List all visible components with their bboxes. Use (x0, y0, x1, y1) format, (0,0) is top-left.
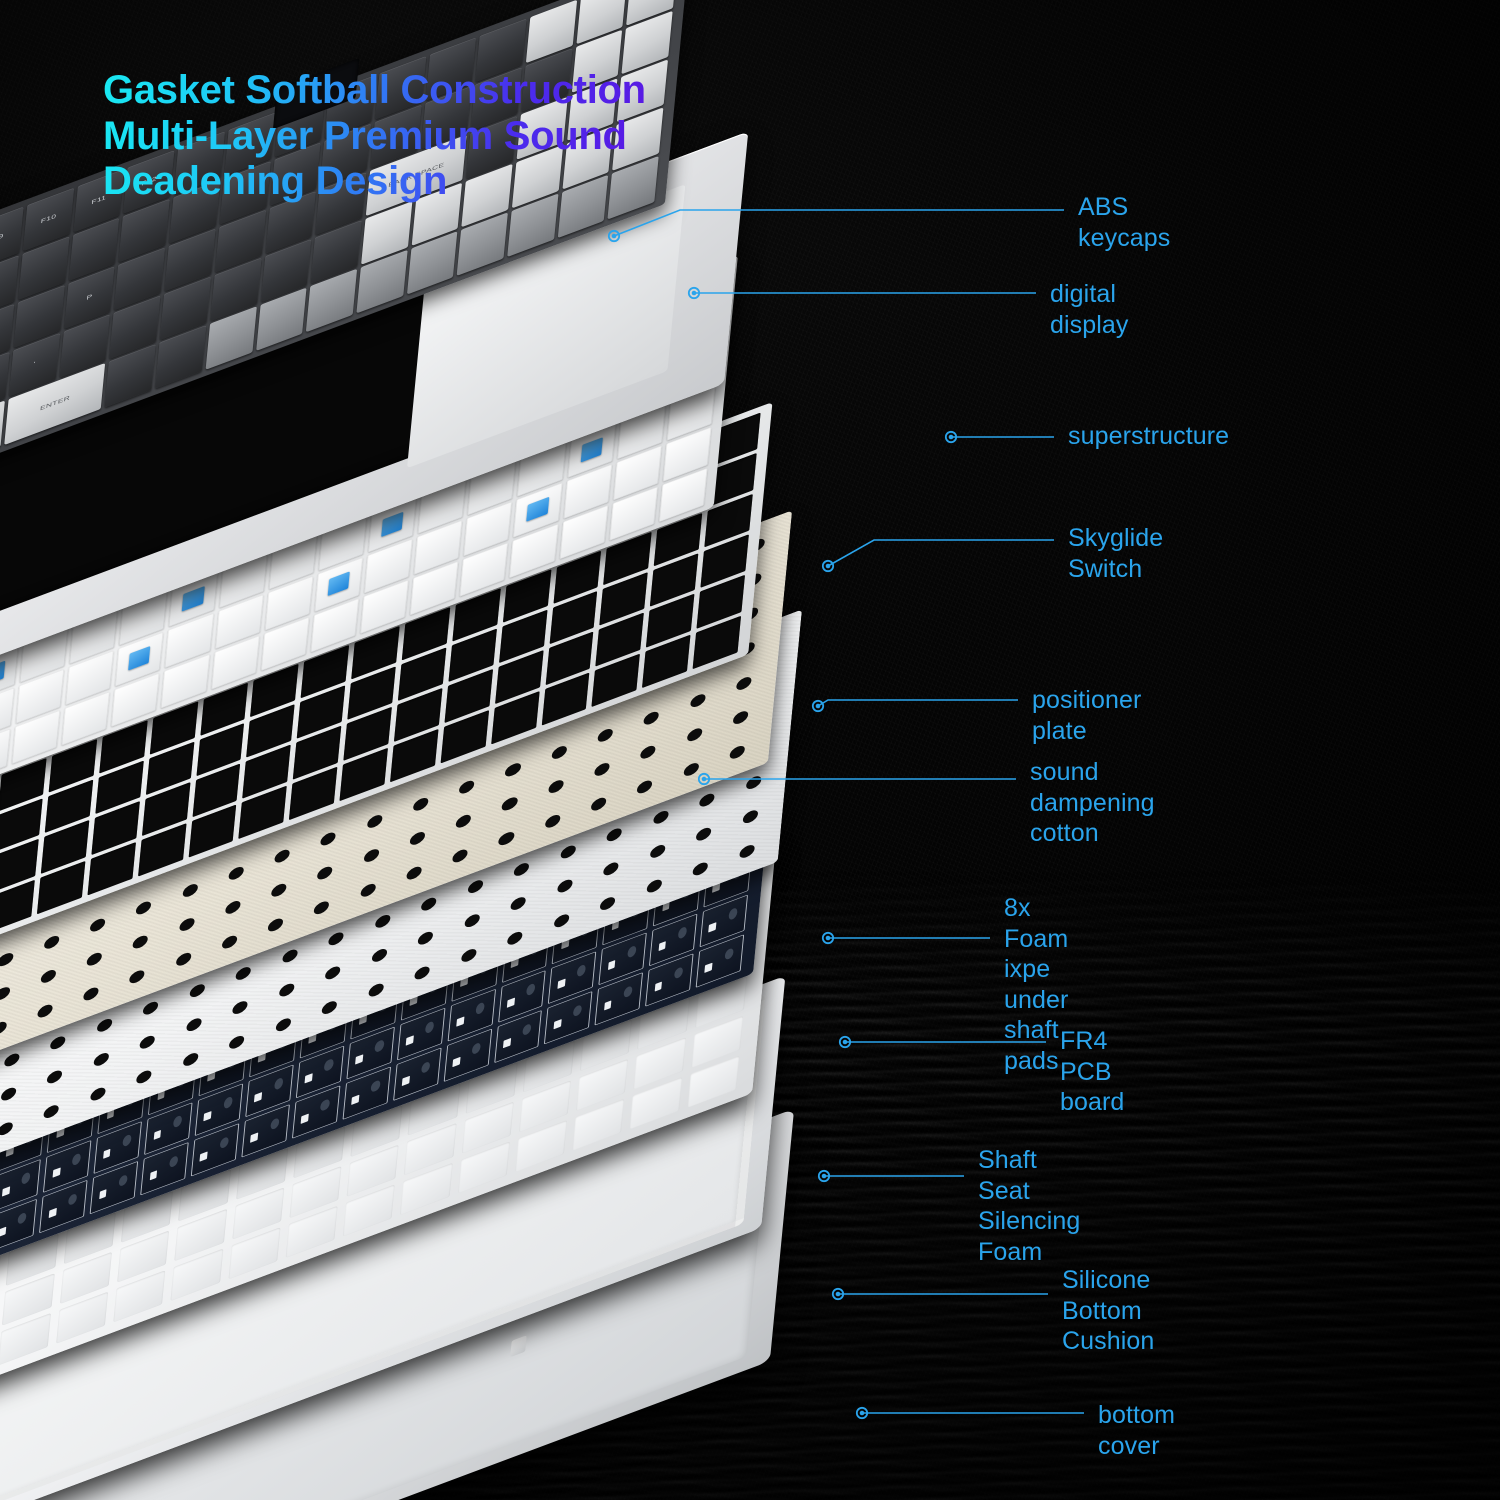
leader-dot-core (860, 1411, 865, 1416)
product-infographic: F8F9F10F11F12FGUIOVBHJKLPBACK SPACENM,./… (0, 0, 1500, 1500)
callout-label-bottom-cover: bottom cover (1098, 1400, 1175, 1461)
callout-group: ABS keycapsdigital displaysuperstructure… (0, 0, 1500, 1500)
